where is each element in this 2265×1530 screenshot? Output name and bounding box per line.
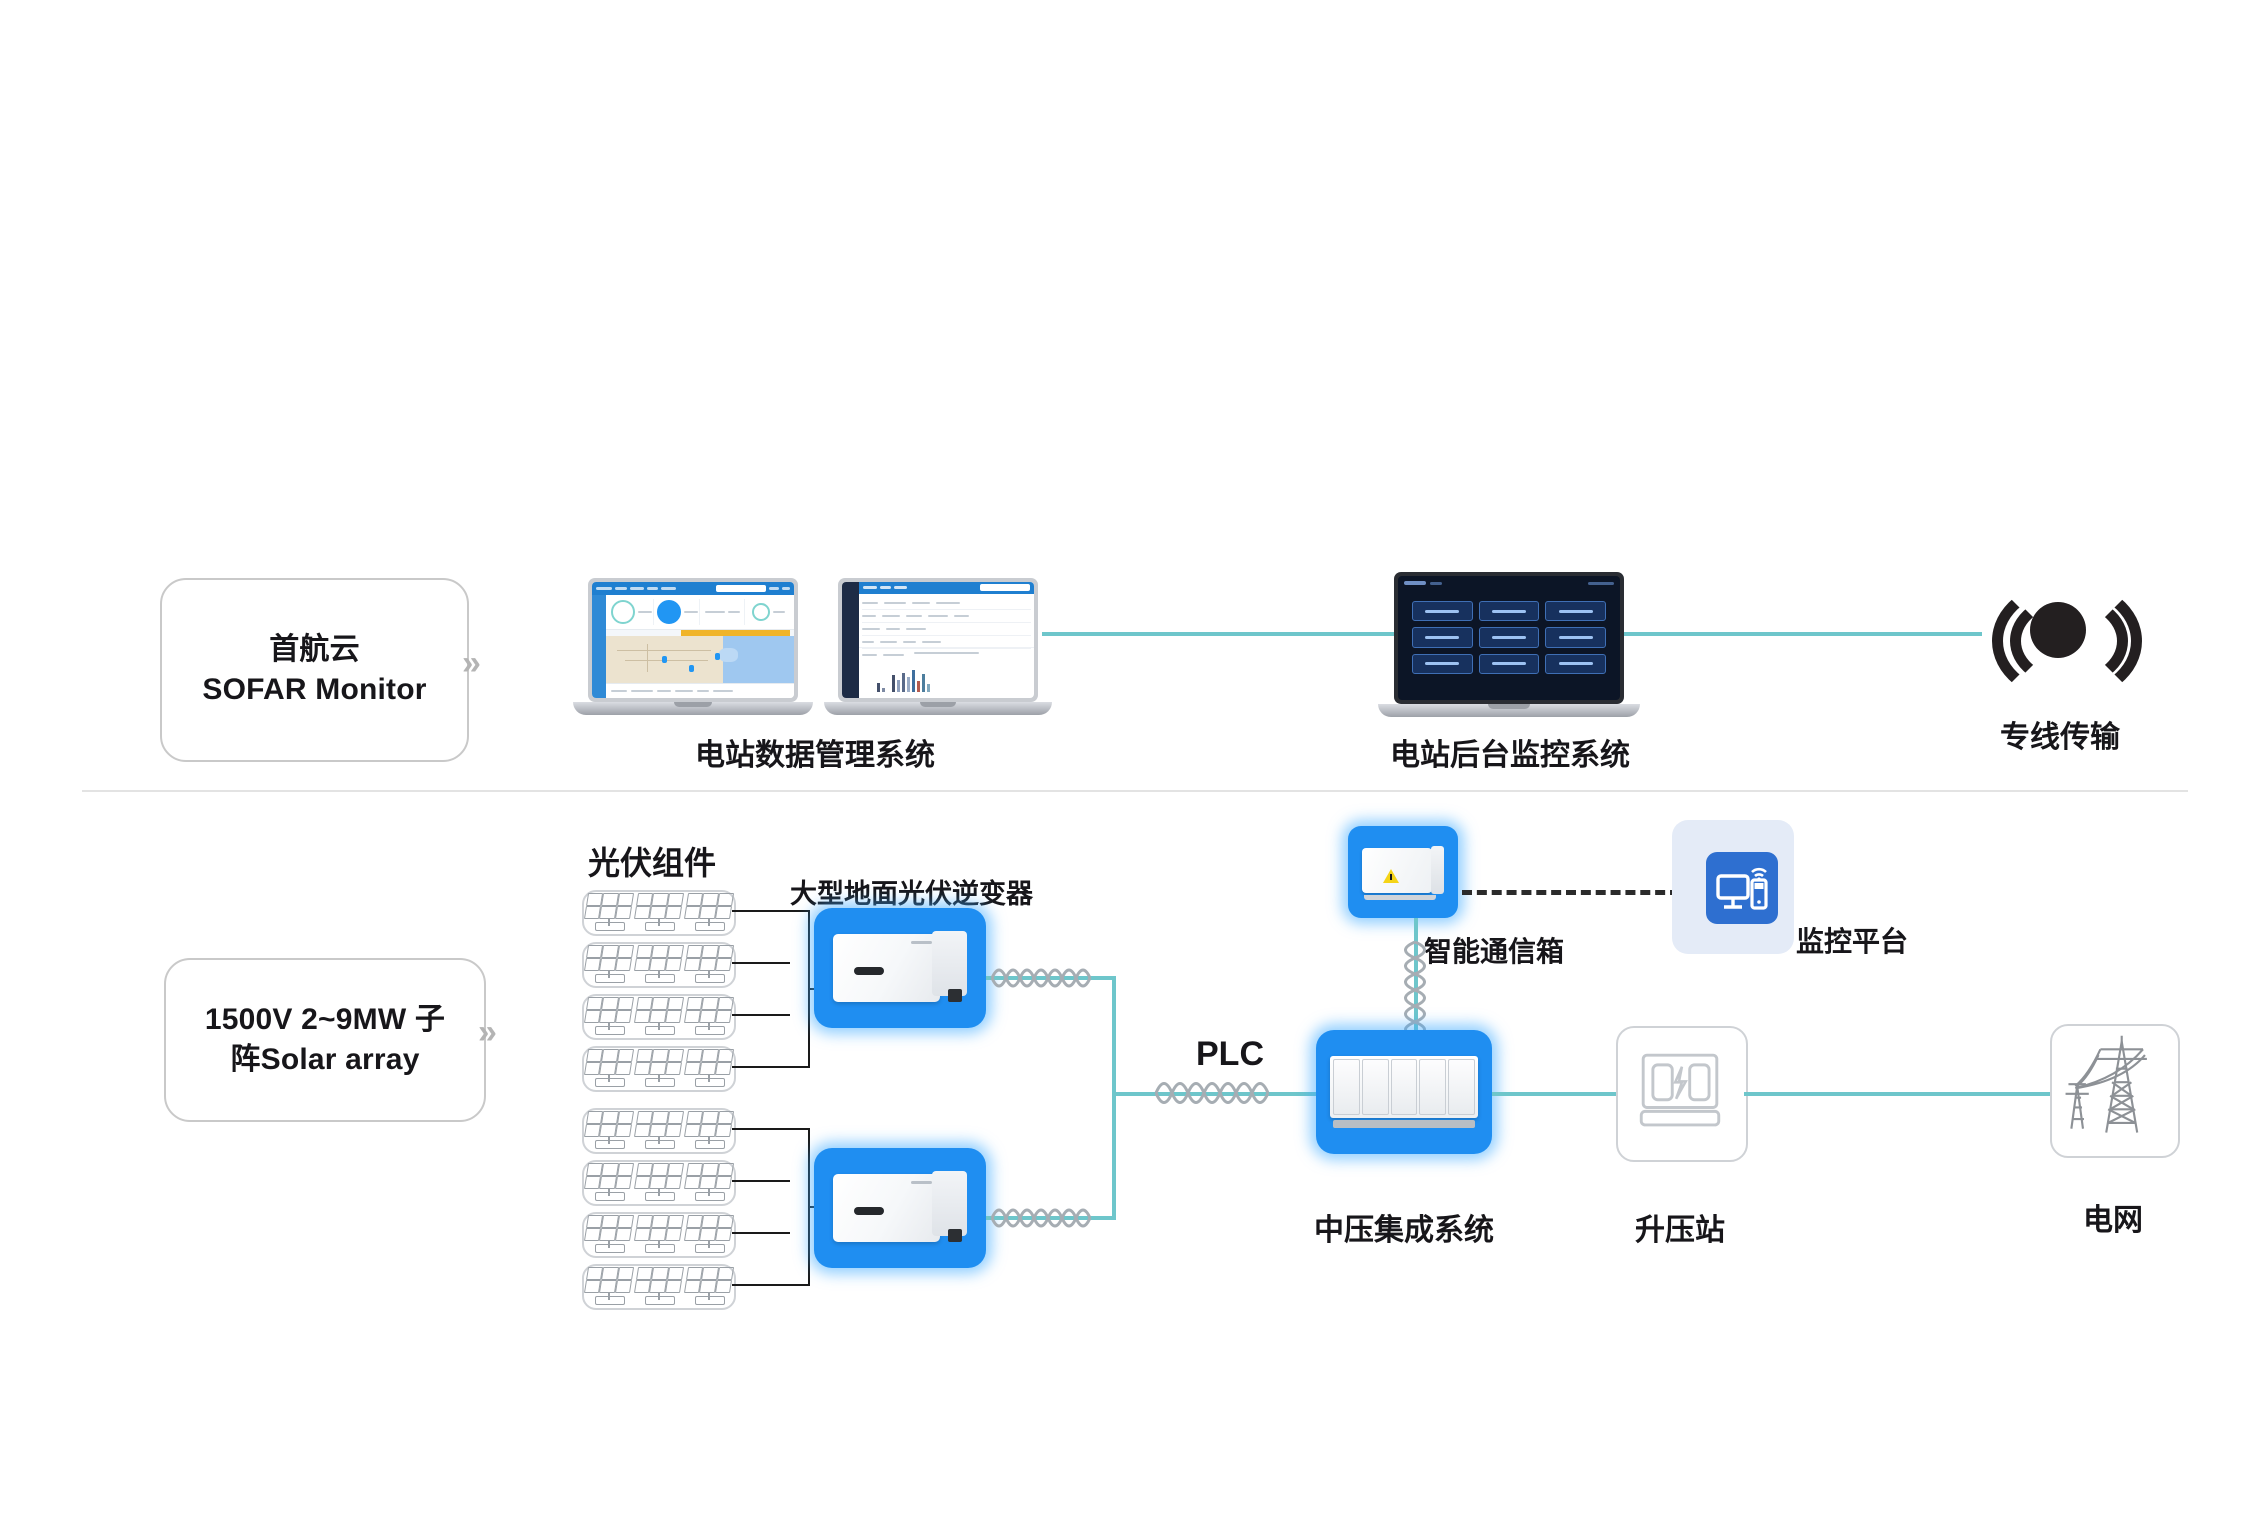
connector-laptops-to-monitor [1042, 632, 1394, 636]
pv-row [582, 1160, 736, 1206]
solar-panel-icon [686, 997, 732, 1037]
backend-menu-grid [1398, 591, 1620, 700]
screen-backend-monitoring [1398, 576, 1620, 700]
connector-booster-to-grid [1744, 1092, 2056, 1096]
solar-panel-icon [686, 1049, 732, 1089]
plc-label: PLC [1196, 1035, 1264, 1074]
inverter-body-icon [833, 1171, 967, 1245]
section-divider [82, 790, 2188, 792]
backend-menu-tile[interactable] [1412, 654, 1473, 674]
solar-panel-icon [586, 945, 632, 985]
screen-report-table [842, 582, 1034, 698]
coil-connector-vertical [1392, 938, 1438, 1036]
backend-menu-tile[interactable] [1479, 654, 1540, 674]
chip-sofar-line1: 首航云 [202, 630, 426, 670]
pv-bracket-line [732, 1232, 790, 1234]
caption-pv-modules: 光伏组件 [588, 838, 768, 884]
solar-panel-icon [586, 1111, 632, 1151]
chip-solar-array: 1500V 2~9MW 子 阵Solar array [164, 958, 486, 1122]
solar-panel-icon [686, 945, 732, 985]
caption-grid: 电网 [2048, 1195, 2178, 1239]
solar-panel-icon [686, 1215, 732, 1255]
pv-bracket-line [732, 1180, 790, 1182]
smart-comm-box-device [1348, 826, 1458, 918]
caption-inverter: 大型地面光伏逆变器 [790, 872, 1050, 911]
laptop-data-management-1 [588, 578, 798, 718]
inverter-bus-vertical [1112, 976, 1116, 1218]
solar-panel-icon [636, 893, 682, 933]
dashboard-footer [606, 683, 794, 698]
mv-integrated-system-device [1316, 1030, 1492, 1154]
connector-mv-to-booster [1492, 1092, 1616, 1096]
inverter-device-2 [814, 1148, 986, 1268]
chevron-right-icon-bottom: » [478, 1013, 497, 1052]
backend-menu-tile[interactable] [1545, 627, 1606, 647]
pv-row [582, 890, 736, 936]
solar-panel-icon [636, 1111, 682, 1151]
report-sidebar [842, 582, 859, 698]
transmission-tower-icon [2052, 1026, 2174, 1152]
inverter-device-1 [814, 908, 986, 1028]
chip-solar-line1: 1500V 2~9MW 子 [205, 1000, 445, 1040]
monitor-desktop-wifi-icon [1706, 852, 1778, 924]
comm-box-body-icon [1362, 844, 1443, 899]
solar-panel-icon [636, 945, 682, 985]
report-bar-chart [859, 647, 1034, 698]
coil-connector-inverter-2 [986, 1198, 1116, 1238]
solar-panel-icon [636, 1267, 682, 1307]
pv-bracket-line [732, 962, 790, 964]
laptop-backend-monitoring [1394, 572, 1624, 720]
chevron-right-icon-top: » [462, 644, 481, 683]
inverter-body-icon [833, 931, 967, 1005]
pv-row [582, 1264, 736, 1310]
solar-panel-icon [686, 1111, 732, 1151]
backend-menu-tile[interactable] [1412, 627, 1473, 647]
solar-panel-icon [586, 1163, 632, 1203]
pv-bracket-line [732, 1014, 790, 1016]
report-topbar [859, 582, 1034, 594]
solar-panel-icon [636, 1163, 682, 1203]
dashboard-search-field [716, 585, 766, 592]
dashboard-topbar [592, 582, 794, 595]
signal-broadcast-icon [1990, 580, 2122, 688]
container-skid-icon [1330, 1056, 1478, 1128]
diagram-canvas: 首航云 SOFAR Monitor » [0, 0, 2265, 1530]
booster-station-card [1616, 1026, 1748, 1162]
dashboard-map [606, 636, 794, 682]
chip-sofar-line2: SOFAR Monitor [202, 670, 426, 710]
caption-monitoring-platform: 监控平台 [1796, 920, 1996, 960]
chip-sofar-monitor: 首航云 SOFAR Monitor [160, 578, 469, 762]
solar-panel-icon [586, 1267, 632, 1307]
backend-menu-tile[interactable] [1545, 654, 1606, 674]
caption-dedicated-line: 专线传输 [1960, 712, 2160, 756]
solar-panel-icon [636, 997, 682, 1037]
pv-row [582, 994, 736, 1040]
report-filter-rows [859, 594, 1034, 647]
solar-panel-icon [686, 893, 732, 933]
solar-panel-icon [636, 1215, 682, 1255]
chip-solar-line2: 阵Solar array [205, 1040, 445, 1080]
backend-menu-tile[interactable] [1545, 601, 1606, 621]
caption-smart-comm-box: 智能通信箱 [1424, 930, 1644, 970]
caption-backend-monitoring: 电站后台监控系统 [1360, 730, 1660, 774]
pv-bracket-line [732, 1128, 810, 1130]
backend-menu-tile[interactable] [1479, 601, 1540, 621]
pv-row [582, 1108, 736, 1154]
pv-bracket-line [732, 1284, 810, 1286]
solar-panel-icon [586, 893, 632, 933]
backend-menu-tile[interactable] [1412, 601, 1473, 621]
backend-menu-tile[interactable] [1479, 627, 1540, 647]
substation-bolt-icon [1618, 1028, 1742, 1156]
solar-panel-icon [686, 1267, 732, 1307]
caption-booster-station: 升压站 [1610, 1205, 1750, 1249]
solar-panel-icon [586, 1215, 632, 1255]
screen-dashboard-map [592, 582, 794, 698]
backend-topbar [1398, 576, 1620, 591]
caption-data-management: 电站数据管理系统 [600, 730, 1030, 774]
solar-panel-icon [586, 1049, 632, 1089]
warning-triangle-icon [1383, 869, 1399, 883]
solar-panel-icon [586, 997, 632, 1037]
solar-panel-icon [686, 1163, 732, 1203]
coil-connector-plc [1152, 1070, 1280, 1116]
caption-mv-system: 中压集成系统 [1294, 1205, 1514, 1249]
dashboard-kpi-cards [606, 595, 794, 630]
connector-monitor-to-signal [1624, 632, 1982, 636]
pv-row [582, 942, 736, 988]
coil-connector-inverter-1 [986, 958, 1116, 998]
dashboard-sidebar [592, 595, 606, 698]
laptop-data-management-2 [838, 578, 1038, 718]
connector-commbox-to-platform [1462, 890, 1680, 895]
solar-panel-icon [636, 1049, 682, 1089]
grid-card [2050, 1024, 2180, 1158]
pv-row [582, 1046, 736, 1092]
pv-bracket-line [732, 1066, 810, 1068]
pv-row [582, 1212, 736, 1258]
